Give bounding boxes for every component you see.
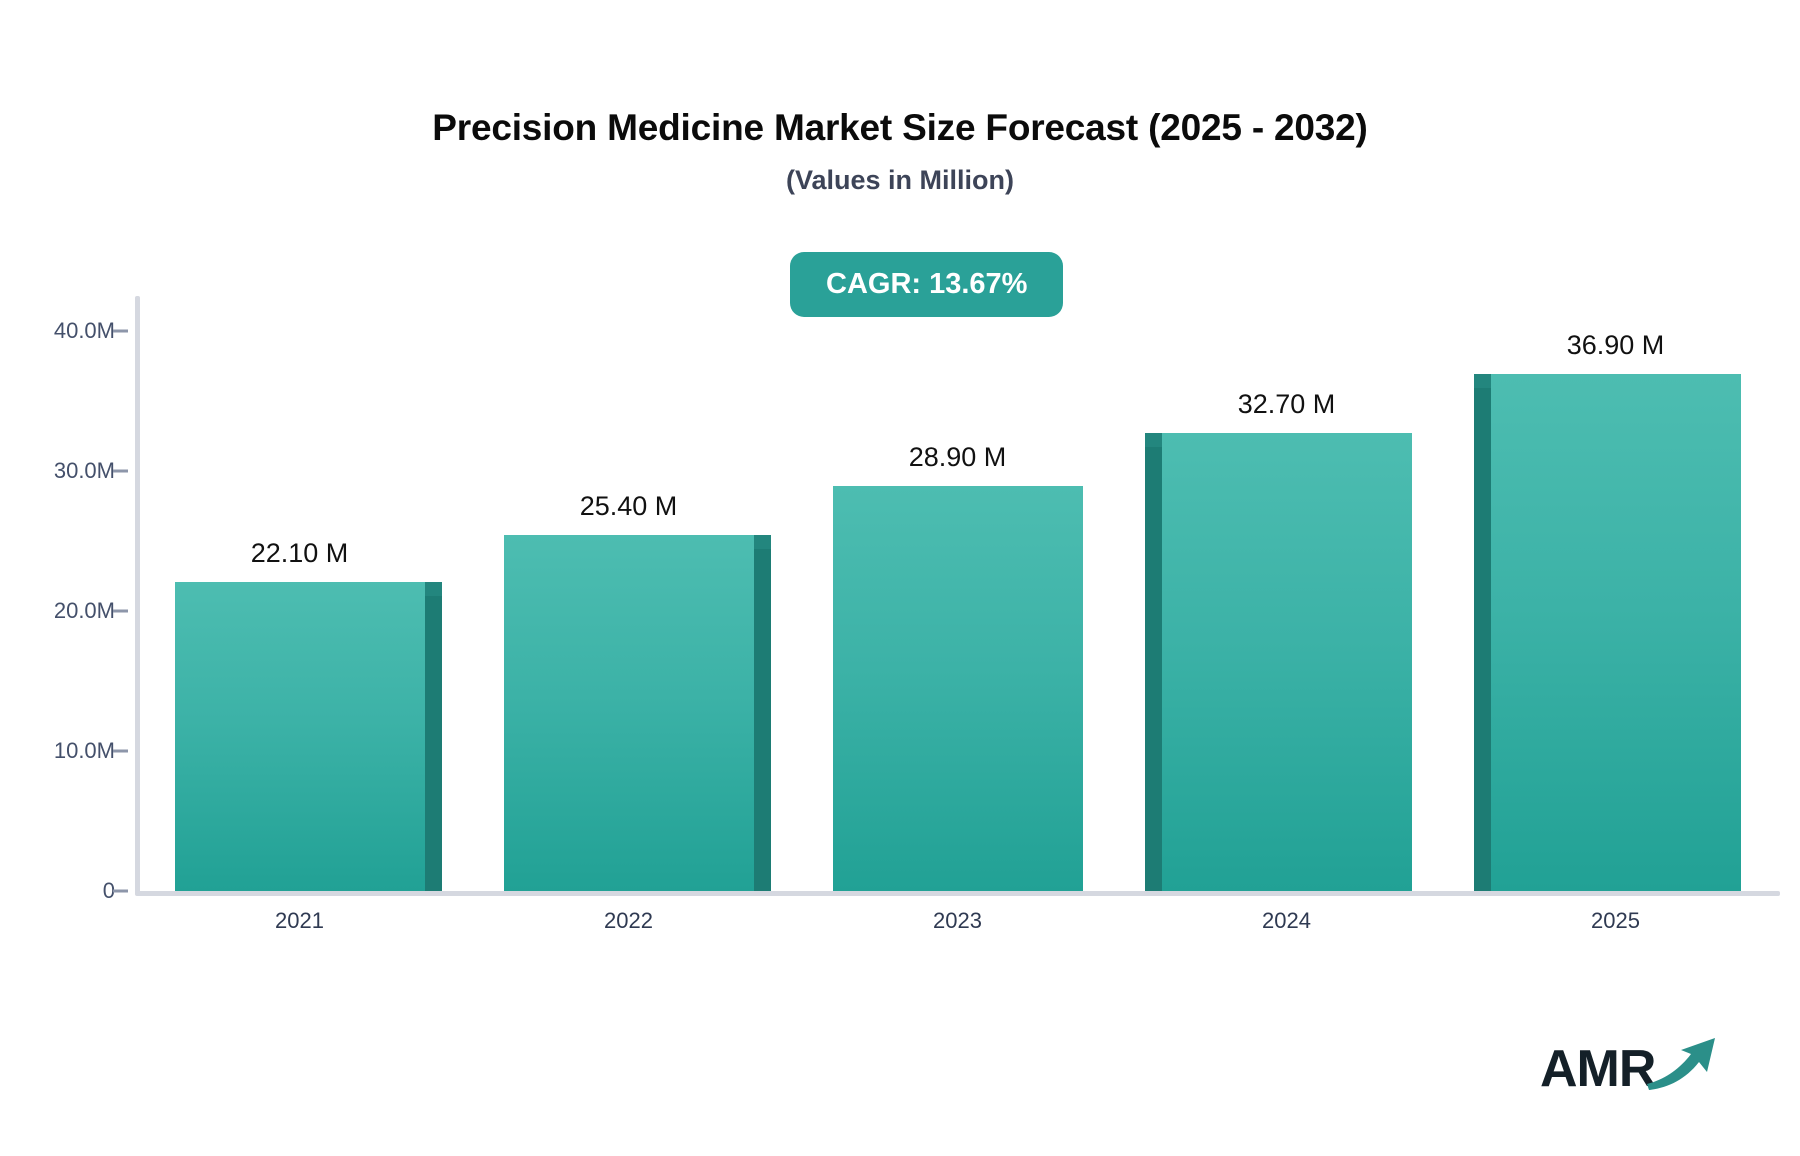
y-axis-tick-mark — [113, 610, 128, 613]
chart-title: Precision Medicine Market Size Forecast … — [0, 108, 1800, 149]
y-axis-tick-mark — [113, 470, 128, 473]
bar-top-bevel — [425, 582, 442, 596]
bar-value-label: 28.90 M — [833, 442, 1083, 473]
y-axis-tick-label: 10.0M — [0, 738, 115, 764]
y-axis-tick-mark — [113, 330, 128, 333]
bar-value-label: 25.40 M — [504, 491, 754, 522]
bar-face — [1491, 374, 1741, 891]
bar: 22.10 M — [175, 582, 425, 891]
bar: 25.40 M — [504, 535, 754, 891]
chart-canvas: Precision Medicine Market Size Forecast … — [0, 0, 1800, 1156]
bar-side-face — [425, 596, 442, 891]
bar-top-bevel — [754, 535, 771, 549]
x-axis-category-label: 2024 — [1162, 908, 1412, 934]
chart-header: Precision Medicine Market Size Forecast … — [0, 108, 1800, 195]
bars-layer: 22.10 M25.40 M28.90 M32.70 M36.90 M — [135, 296, 1780, 895]
y-axis-tick-mark — [113, 890, 128, 893]
bar-value-label: 36.90 M — [1491, 330, 1741, 361]
bar-value-label: 32.70 M — [1162, 389, 1412, 420]
bar: 36.90 M — [1491, 374, 1741, 891]
y-axis-tick-mark — [113, 750, 128, 753]
x-axis-category-label: 2022 — [504, 908, 754, 934]
bar-top-bevel — [1474, 374, 1491, 388]
bar-top-bevel — [1145, 433, 1162, 447]
y-axis-tick-label: 20.0M — [0, 598, 115, 624]
bar: 32.70 M — [1162, 433, 1412, 891]
amr-logo: AMR — [1540, 1040, 1719, 1097]
y-axis-tick-label: 0 — [0, 878, 115, 904]
y-axis-tick-label: 30.0M — [0, 458, 115, 484]
x-axis-category-label: 2023 — [833, 908, 1083, 934]
bar-side-face — [754, 549, 771, 891]
bar-value-label: 22.10 M — [175, 538, 425, 569]
y-axis-tick-label: 40.0M — [0, 318, 115, 344]
plot-area: 40.0M30.0M20.0M10.0M0 22.10 M25.40 M28.9… — [135, 296, 1780, 895]
bar-side-face — [1474, 388, 1491, 891]
bar-face — [504, 535, 754, 891]
bar-side-face — [1145, 447, 1162, 891]
bar-face — [833, 486, 1083, 891]
x-axis-category-label: 2021 — [175, 908, 425, 934]
x-axis-category-label: 2025 — [1491, 908, 1741, 934]
chart-subtitle: (Values in Million) — [0, 166, 1800, 196]
bar: 28.90 M — [833, 486, 1083, 891]
bar-face — [175, 582, 425, 891]
bar-face — [1162, 433, 1412, 891]
amr-logo-text: AMR — [1540, 1043, 1655, 1095]
growth-arrow-icon — [1645, 1034, 1719, 1097]
